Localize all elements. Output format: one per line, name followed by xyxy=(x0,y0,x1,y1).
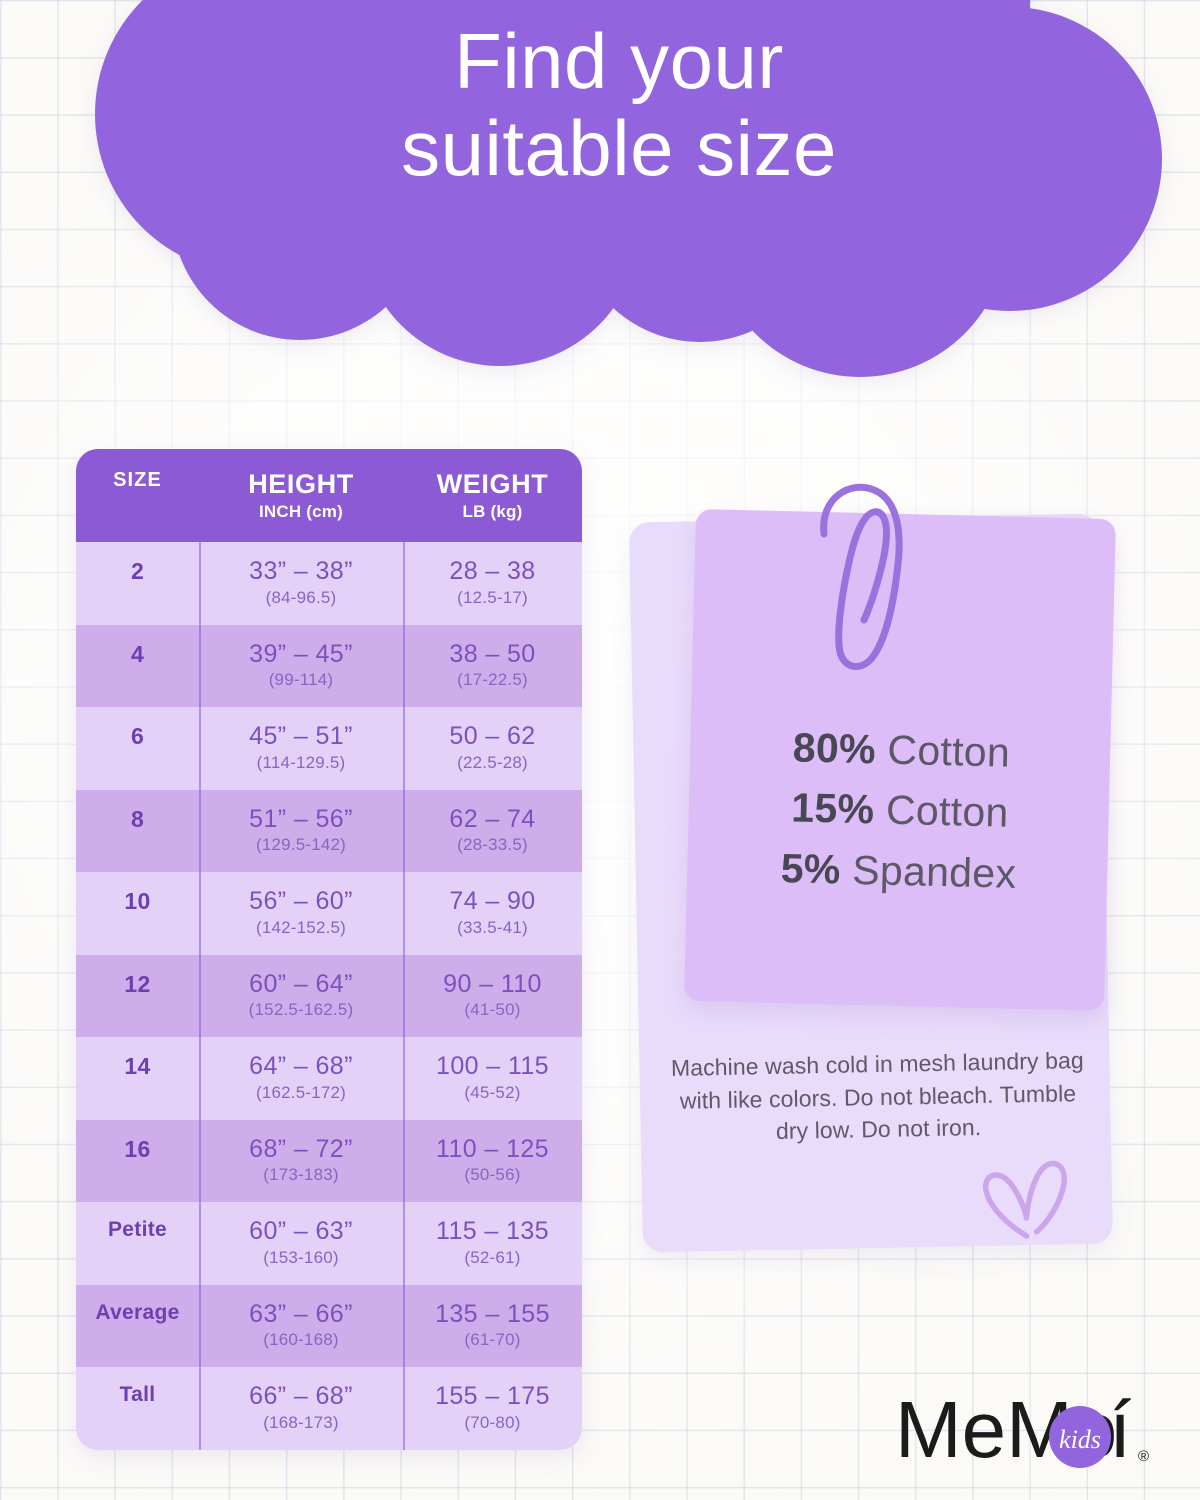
weight-kg: (61-70) xyxy=(405,1330,580,1350)
cell-height: 39” – 45”(99-114) xyxy=(199,625,403,708)
table-row: 1260” – 64”(152.5-162.5)90 – 110(41-50) xyxy=(76,955,582,1038)
height-inches: 39” – 45” xyxy=(201,641,401,669)
cell-height: 63” – 66”(160-168) xyxy=(199,1285,403,1368)
table-row: 645” – 51”(114-129.5)50 – 62(22.5-28) xyxy=(76,707,582,790)
height-cm: (114-129.5) xyxy=(201,753,401,773)
fabric-line: 5% Spandex xyxy=(688,835,1109,906)
page-title: Find your suitable size xyxy=(0,18,1200,193)
cell-weight: 135 – 155(61-70) xyxy=(403,1285,582,1368)
height-inches: 45” – 51” xyxy=(201,723,401,751)
cell-size: Average xyxy=(76,1285,199,1368)
weight-kg: (70-80) xyxy=(405,1413,580,1433)
table-header-row: SIZE HEIGHT INCH (cm) WEIGHT LB (kg) xyxy=(76,449,582,542)
size-value: 12 xyxy=(78,971,197,998)
height-inches: 60” – 64” xyxy=(201,971,401,999)
infographic-page: Find your suitable size SIZE HEIGHT INCH… xyxy=(0,0,1200,1500)
page-title-line-1: Find your xyxy=(38,18,1200,105)
cell-height: 45” – 51”(114-129.5) xyxy=(199,707,403,790)
weight-lb: 110 – 125 xyxy=(405,1136,580,1164)
table-row: Average63” – 66”(160-168)135 – 155(61-70… xyxy=(76,1285,582,1368)
weight-lb: 38 – 50 xyxy=(405,641,580,669)
height-cm: (168-173) xyxy=(201,1413,401,1433)
cell-height: 60” – 64”(152.5-162.5) xyxy=(199,955,403,1038)
height-inches: 60” – 63” xyxy=(201,1218,401,1246)
cell-weight: 110 – 125(50-56) xyxy=(403,1120,582,1203)
cell-size: 6 xyxy=(76,707,199,790)
height-inches: 63” – 66” xyxy=(201,1301,401,1329)
fabric-composition: 80% Cotton 15% Cotton 5% Spandex xyxy=(688,715,1112,906)
product-notes-panel: 80% Cotton 15% Cotton 5% Spandex Machine… xyxy=(628,500,1128,1260)
cell-weight: 155 – 175(70-80) xyxy=(403,1367,582,1450)
cell-size: 4 xyxy=(76,625,199,708)
paperclip-icon xyxy=(806,472,916,682)
cell-size: 8 xyxy=(76,790,199,873)
size-value: Average xyxy=(78,1301,197,1325)
care-instructions: Machine wash cold in mesh laundry bag wi… xyxy=(667,1044,1089,1150)
fabric-percent: 80% xyxy=(792,724,876,772)
size-value: 8 xyxy=(78,806,197,833)
memoi-kids-logo: MeMo kids í ® xyxy=(895,1385,1150,1480)
weight-lb: 50 – 62 xyxy=(405,723,580,751)
page-title-line-2: suitable size xyxy=(38,105,1200,192)
size-value: 14 xyxy=(78,1053,197,1080)
height-inches: 33” – 38” xyxy=(201,558,401,586)
size-value: 6 xyxy=(78,723,197,750)
cell-weight: 50 – 62(22.5-28) xyxy=(403,707,582,790)
column-divider-2 xyxy=(403,449,405,1450)
column-header-size: SIZE xyxy=(76,449,199,542)
weight-kg: (50-56) xyxy=(405,1165,580,1185)
fabric-material: Spandex xyxy=(852,846,1017,896)
cell-height: 66” – 68”(168-173) xyxy=(199,1367,403,1450)
weight-kg: (41-50) xyxy=(405,1000,580,1020)
fabric-percent: 15% xyxy=(791,785,875,833)
weight-kg: (28-33.5) xyxy=(405,835,580,855)
size-value: Tall xyxy=(78,1383,197,1407)
cell-size: Petite xyxy=(76,1202,199,1285)
column-header-weight: WEIGHT LB (kg) xyxy=(403,449,582,542)
table-row: 1668” – 72”(173-183)110 – 125(50-56) xyxy=(76,1120,582,1203)
fabric-line: 15% Cotton xyxy=(689,775,1110,846)
table-row: 1056” – 60”(142-152.5)74 – 90(33.5-41) xyxy=(76,872,582,955)
heart-doodle-icon xyxy=(979,1159,1073,1245)
size-value: 4 xyxy=(78,641,197,668)
cell-height: 68” – 72”(173-183) xyxy=(199,1120,403,1203)
cell-size: 12 xyxy=(76,955,199,1038)
cell-height: 51” – 56”(129.5-142) xyxy=(199,790,403,873)
height-cm: (162.5-172) xyxy=(201,1083,401,1103)
cell-weight: 62 – 74(28-33.5) xyxy=(403,790,582,873)
height-cm: (129.5-142) xyxy=(201,835,401,855)
size-value: 16 xyxy=(78,1136,197,1163)
weight-kg: (45-52) xyxy=(405,1083,580,1103)
size-value: 10 xyxy=(78,888,197,915)
height-cm: (153-160) xyxy=(201,1248,401,1268)
cell-height: 33” – 38”(84-96.5) xyxy=(199,542,403,625)
height-cm: (160-168) xyxy=(201,1330,401,1350)
size-value: Petite xyxy=(78,1218,197,1242)
table-row: 851” – 56”(129.5-142)62 – 74(28-33.5) xyxy=(76,790,582,873)
cell-weight: 100 – 115(45-52) xyxy=(403,1037,582,1120)
cell-weight: 28 – 38(12.5-17) xyxy=(403,542,582,625)
fabric-percent: 5% xyxy=(780,845,841,892)
height-cm: (152.5-162.5) xyxy=(201,1000,401,1020)
cell-size: 14 xyxy=(76,1037,199,1120)
logo-wordmark-tail: í xyxy=(1109,1385,1131,1474)
trademark-symbol: ® xyxy=(1138,1448,1149,1465)
cell-weight: 38 – 50(17-22.5) xyxy=(403,625,582,708)
height-inches: 51” – 56” xyxy=(201,806,401,834)
kids-badge-label: kids xyxy=(1059,1425,1101,1454)
cell-weight: 90 – 110(41-50) xyxy=(403,955,582,1038)
height-inches: 56” – 60” xyxy=(201,888,401,916)
cell-size: 16 xyxy=(76,1120,199,1203)
weight-lb: 28 – 38 xyxy=(405,558,580,586)
weight-kg: (33.5-41) xyxy=(405,918,580,938)
height-inches: 68” – 72” xyxy=(201,1136,401,1164)
table-body: 233” – 38”(84-96.5)28 – 38(12.5-17)439” … xyxy=(76,542,582,1450)
cloud-header: Find your suitable size xyxy=(0,0,1200,394)
column-header-height: HEIGHT INCH (cm) xyxy=(199,449,403,542)
weight-lb: 135 – 155 xyxy=(405,1301,580,1329)
weight-kg: (52-61) xyxy=(405,1248,580,1268)
weight-lb: 100 – 115 xyxy=(405,1053,580,1081)
size-chart-table: SIZE HEIGHT INCH (cm) WEIGHT LB (kg) 233… xyxy=(76,449,582,1450)
cell-size: 2 xyxy=(76,542,199,625)
cell-height: 60” – 63”(153-160) xyxy=(199,1202,403,1285)
cell-weight: 74 – 90(33.5-41) xyxy=(403,872,582,955)
table-row: 1464” – 68”(162.5-172)100 – 115(45-52) xyxy=(76,1037,582,1120)
table-row: Petite60” – 63”(153-160)115 – 135(52-61) xyxy=(76,1202,582,1285)
cell-weight: 115 – 135(52-61) xyxy=(403,1202,582,1285)
column-divider-1 xyxy=(199,449,201,1450)
height-cm: (84-96.5) xyxy=(201,588,401,608)
cell-height: 56” – 60”(142-152.5) xyxy=(199,872,403,955)
table-row: Tall66” – 68”(168-173)155 – 175(70-80) xyxy=(76,1367,582,1450)
size-value: 2 xyxy=(78,558,197,585)
fabric-material: Cotton xyxy=(885,787,1009,836)
fabric-material: Cotton xyxy=(887,727,1011,776)
weight-kg: (22.5-28) xyxy=(405,753,580,773)
weight-lb: 90 – 110 xyxy=(405,971,580,999)
height-cm: (99-114) xyxy=(201,670,401,690)
cell-height: 64” – 68”(162.5-172) xyxy=(199,1037,403,1120)
table-row: 439” – 45”(99-114)38 – 50(17-22.5) xyxy=(76,625,582,708)
weight-kg: (12.5-17) xyxy=(405,588,580,608)
height-inches: 66” – 68” xyxy=(201,1383,401,1411)
table-row: 233” – 38”(84-96.5)28 – 38(12.5-17) xyxy=(76,542,582,625)
height-cm: (142-152.5) xyxy=(201,918,401,938)
fabric-line: 80% Cotton xyxy=(691,715,1112,786)
weight-kg: (17-22.5) xyxy=(405,670,580,690)
cell-size: 10 xyxy=(76,872,199,955)
weight-lb: 115 – 135 xyxy=(405,1218,580,1246)
height-cm: (173-183) xyxy=(201,1165,401,1185)
weight-lb: 74 – 90 xyxy=(405,888,580,916)
weight-lb: 155 – 175 xyxy=(405,1383,580,1411)
height-inches: 64” – 68” xyxy=(201,1053,401,1081)
cell-size: Tall xyxy=(76,1367,199,1450)
weight-lb: 62 – 74 xyxy=(405,806,580,834)
